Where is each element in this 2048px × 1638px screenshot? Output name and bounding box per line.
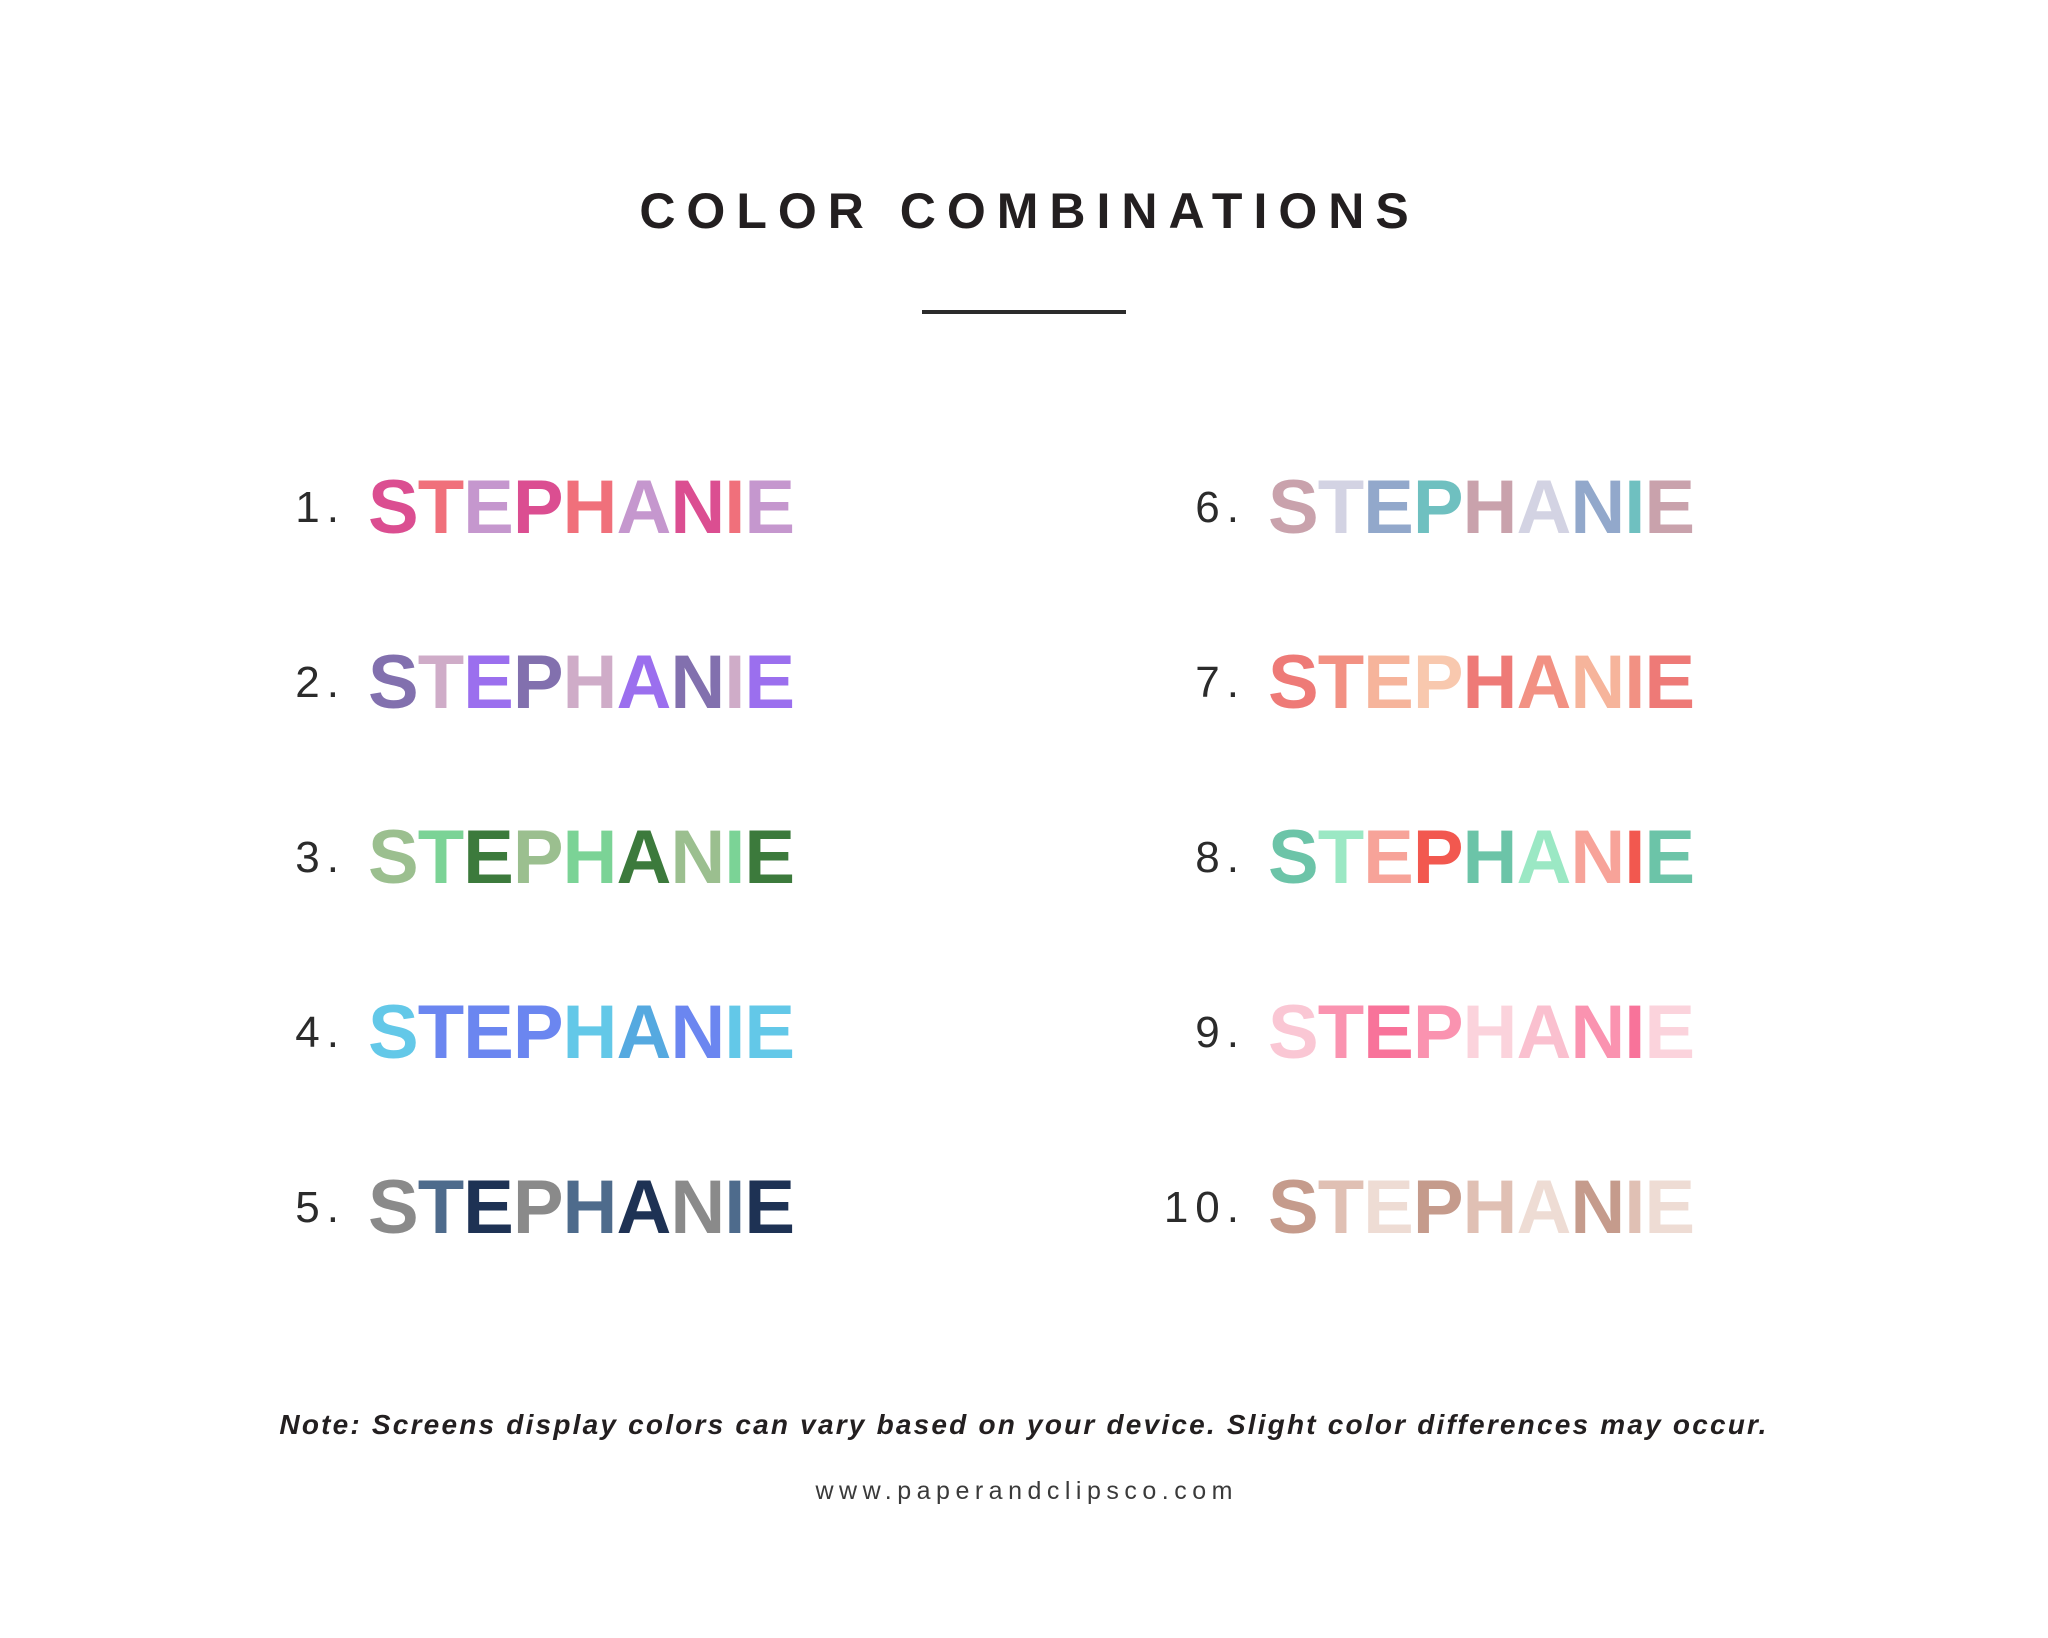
name-letter: P: [1413, 820, 1463, 896]
name-letter: E: [1644, 820, 1694, 896]
name-letter: H: [563, 1170, 617, 1246]
title-divider: [922, 310, 1126, 314]
combination-number: 6.: [1152, 483, 1246, 533]
name-letter: H: [563, 470, 617, 546]
name-letter: I: [1624, 820, 1644, 896]
combination-name-sample: STEPHANIE: [1268, 645, 1694, 721]
name-letter: H: [1463, 820, 1517, 896]
name-letter: N: [670, 995, 724, 1071]
name-letter: A: [616, 995, 670, 1071]
color-combinations-page: COLOR COMBINATIONS 1.STEPHANIE2.STEPHANI…: [0, 0, 2048, 1638]
combination-name-sample: STEPHANIE: [1268, 470, 1694, 546]
color-combination-row: 9.STEPHANIE: [1152, 945, 2048, 1120]
name-letter: P: [513, 645, 563, 721]
name-letter: N: [670, 645, 724, 721]
combination-name-sample: STEPHANIE: [368, 820, 794, 896]
name-letter: T: [418, 1170, 463, 1246]
name-letter: I: [1624, 470, 1644, 546]
name-letter: T: [1318, 1170, 1363, 1246]
color-combination-row: 4.STEPHANIE: [282, 945, 1024, 1120]
name-letter: T: [1318, 995, 1363, 1071]
combination-number: 2.: [282, 658, 346, 708]
combination-number: 1.: [282, 483, 346, 533]
name-letter: P: [1413, 995, 1463, 1071]
name-letter: E: [463, 820, 513, 896]
name-letter: P: [1413, 645, 1463, 721]
name-letter: E: [1363, 820, 1413, 896]
name-letter: S: [368, 995, 418, 1071]
color-combination-row: 5.STEPHANIE: [282, 1120, 1024, 1295]
name-letter: S: [368, 1170, 418, 1246]
name-letter: N: [1570, 645, 1624, 721]
name-letter: A: [1516, 470, 1570, 546]
color-combination-row: 7.STEPHANIE: [1152, 595, 2048, 770]
name-letter: N: [1570, 995, 1624, 1071]
page-title: COLOR COMBINATIONS: [0, 186, 2048, 236]
name-letter: E: [1363, 995, 1413, 1071]
page-footer: Note: Screens display colors can vary ba…: [0, 1408, 2048, 1506]
name-letter: P: [513, 1170, 563, 1246]
combination-name-sample: STEPHANIE: [1268, 1170, 1694, 1246]
name-letter: E: [463, 470, 513, 546]
name-letter: H: [563, 995, 617, 1071]
name-letter: I: [1624, 645, 1644, 721]
name-letter: P: [513, 820, 563, 896]
combination-name-sample: STEPHANIE: [368, 1170, 794, 1246]
name-letter: H: [563, 820, 617, 896]
combinations-column-left: 1.STEPHANIE2.STEPHANIE3.STEPHANIE4.STEPH…: [0, 420, 1024, 1295]
name-letter: T: [418, 820, 463, 896]
name-letter: E: [1363, 1170, 1413, 1246]
name-letter: P: [513, 470, 563, 546]
combination-number: 3.: [282, 833, 346, 883]
name-letter: P: [513, 995, 563, 1071]
combination-name-sample: STEPHANIE: [1268, 820, 1694, 896]
name-letter: S: [1268, 1170, 1318, 1246]
name-letter: E: [463, 645, 513, 721]
name-letter: I: [724, 1170, 744, 1246]
name-letter: H: [563, 645, 617, 721]
combination-number: 5.: [282, 1183, 346, 1233]
color-combination-row: 2.STEPHANIE: [282, 595, 1024, 770]
page-header: COLOR COMBINATIONS: [0, 0, 2048, 314]
name-letter: E: [744, 995, 794, 1071]
name-letter: I: [724, 995, 744, 1071]
name-letter: S: [368, 470, 418, 546]
name-letter: S: [1268, 995, 1318, 1071]
name-letter: I: [724, 470, 744, 546]
name-letter: T: [1318, 645, 1363, 721]
combination-name-sample: STEPHANIE: [1268, 995, 1694, 1071]
color-combination-row: 3.STEPHANIE: [282, 770, 1024, 945]
name-letter: E: [1363, 470, 1413, 546]
name-letter: S: [1268, 645, 1318, 721]
combination-number: 4.: [282, 1008, 346, 1058]
name-letter: T: [418, 995, 463, 1071]
name-letter: H: [1463, 995, 1517, 1071]
name-letter: P: [1413, 1170, 1463, 1246]
name-letter: N: [670, 470, 724, 546]
name-letter: I: [724, 820, 744, 896]
name-letter: E: [744, 1170, 794, 1246]
combinations-grid: 1.STEPHANIE2.STEPHANIE3.STEPHANIE4.STEPH…: [0, 420, 2048, 1295]
name-letter: N: [1570, 820, 1624, 896]
name-letter: N: [670, 1170, 724, 1246]
combination-number: 8.: [1152, 833, 1246, 883]
name-letter: E: [744, 470, 794, 546]
name-letter: S: [1268, 820, 1318, 896]
name-letter: A: [616, 645, 670, 721]
name-letter: P: [1413, 470, 1463, 546]
name-letter: N: [670, 820, 724, 896]
combination-name-sample: STEPHANIE: [368, 645, 794, 721]
name-letter: N: [1570, 1170, 1624, 1246]
name-letter: E: [1644, 995, 1694, 1071]
name-letter: A: [616, 820, 670, 896]
name-letter: E: [463, 995, 513, 1071]
name-letter: S: [1268, 470, 1318, 546]
color-combination-row: 1.STEPHANIE: [282, 420, 1024, 595]
name-letter: S: [368, 645, 418, 721]
name-letter: H: [1463, 470, 1517, 546]
name-letter: A: [1516, 820, 1570, 896]
name-letter: A: [616, 470, 670, 546]
name-letter: N: [1570, 470, 1624, 546]
name-letter: S: [368, 820, 418, 896]
combination-number: 10.: [1152, 1183, 1246, 1233]
footer-url: www.paperandclipsco.com: [0, 1476, 2048, 1506]
name-letter: T: [418, 470, 463, 546]
name-letter: H: [1463, 1170, 1517, 1246]
name-letter: A: [1516, 645, 1570, 721]
name-letter: T: [418, 645, 463, 721]
name-letter: I: [724, 645, 744, 721]
combination-number: 9.: [1152, 1008, 1246, 1058]
footer-note: Note: Screens display colors can vary ba…: [0, 1408, 2048, 1442]
color-combination-row: 10.STEPHANIE: [1152, 1120, 2048, 1295]
name-letter: A: [1516, 1170, 1570, 1246]
name-letter: A: [1516, 995, 1570, 1071]
combination-name-sample: STEPHANIE: [368, 470, 794, 546]
name-letter: T: [1318, 820, 1363, 896]
combination-name-sample: STEPHANIE: [368, 995, 794, 1071]
color-combination-row: 6.STEPHANIE: [1152, 420, 2048, 595]
name-letter: A: [616, 1170, 670, 1246]
name-letter: E: [1644, 470, 1694, 546]
name-letter: T: [1318, 470, 1363, 546]
combination-number: 7.: [1152, 658, 1246, 708]
name-letter: E: [1644, 645, 1694, 721]
color-combination-row: 8.STEPHANIE: [1152, 770, 2048, 945]
name-letter: E: [744, 820, 794, 896]
name-letter: I: [1624, 995, 1644, 1071]
name-letter: E: [1363, 645, 1413, 721]
name-letter: H: [1463, 645, 1517, 721]
name-letter: E: [1644, 1170, 1694, 1246]
combinations-column-right: 6.STEPHANIE7.STEPHANIE8.STEPHANIE9.STEPH…: [1024, 420, 2048, 1295]
name-letter: E: [463, 1170, 513, 1246]
name-letter: I: [1624, 1170, 1644, 1246]
name-letter: E: [744, 645, 794, 721]
